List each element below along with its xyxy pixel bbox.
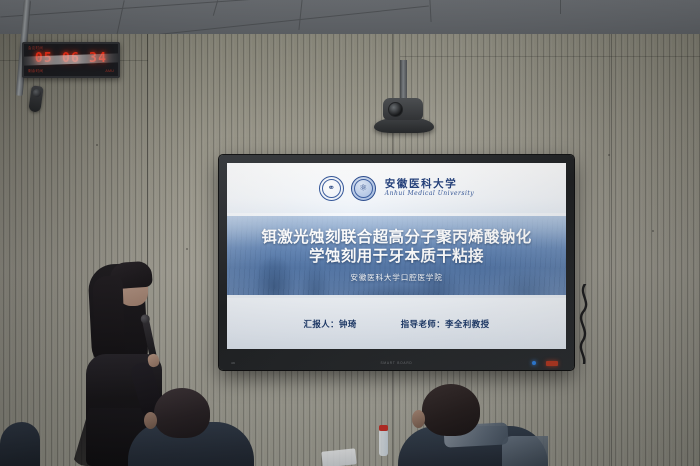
display-brand-mark: SMART BOARD <box>380 361 412 365</box>
ir-receiver-led <box>546 361 558 366</box>
university-seal-icon: ⚛ <box>351 176 376 201</box>
display-badge: 4K <box>231 361 235 365</box>
university-wordmark: 安徽医科大学 Anhui Medical University <box>385 178 474 198</box>
audience-right-head <box>422 384 480 436</box>
slide-title-line-2: 学蚀刻用于牙本质干粘接 <box>247 247 547 266</box>
tooth-glyph: ⚭ <box>328 184 336 193</box>
camera-mount-rod <box>400 60 407 102</box>
advisor-label: 指导老师：李全利教授 <box>401 318 490 330</box>
presentation-room-photo: 会议时间 05 06 34 剩余时间 AMU ⚭ ⚛ <box>0 0 700 466</box>
slide-header: ⚭ ⚛ 安徽医科大学 Anhui Medical University <box>227 163 566 213</box>
led-clock-bottom-right: AMU <box>105 68 114 74</box>
seal-glyph: ⚛ <box>359 184 367 193</box>
led-clock-display: 会议时间 05 06 34 剩余时间 AMU <box>22 42 120 78</box>
camera-lens-icon <box>388 102 403 117</box>
bottle-cap <box>379 425 388 431</box>
audience-front-left <box>132 388 244 466</box>
audience-front-right <box>398 384 548 466</box>
slide-title-line-1: 铒激光蚀刻联合超高分子聚丙烯酸钠化 <box>247 228 547 247</box>
hanging-cable <box>576 284 594 364</box>
slide-photo-band: 铒激光蚀刻联合超高分子聚丙烯酸钠化 学蚀刻用于牙本质干粘接 安徽医科大学口腔医学… <box>227 216 566 295</box>
presentation-slide: ⚭ ⚛ 安徽医科大学 Anhui Medical University <box>227 163 566 349</box>
display-bezel-bottom: 4K SMART BOARD <box>227 357 566 368</box>
university-name-en: Anhui Medical University <box>385 190 474 198</box>
audience-right-shoulder <box>502 436 548 466</box>
water-bottle <box>379 430 388 456</box>
audience-left-head <box>154 388 210 438</box>
slide-footer: 汇报人：钟琦 指导老师：李全利教授 <box>227 298 566 349</box>
power-led-indicator <box>532 361 536 365</box>
slide-subtitle: 安徽医科大学口腔医学院 <box>350 272 442 283</box>
led-clock-bottom-row: 剩余时间 AMU <box>28 68 114 74</box>
paper-sheet <box>321 448 356 466</box>
presenter-label: 汇报人：钟琦 <box>304 318 357 330</box>
slide-title-block: 铒激光蚀刻联合超高分子聚丙烯酸钠化 学蚀刻用于牙本质干粘接 安徽医科大学口腔医学… <box>227 216 566 295</box>
led-clock-digits: 05 06 34 <box>24 51 118 66</box>
led-clock-bottom-left: 剩余时间 <box>28 68 43 74</box>
university-name-cn: 安徽医科大学 <box>385 178 474 190</box>
audience-right-ear <box>412 410 425 428</box>
audience-left-ear <box>144 412 157 429</box>
audience-far-left <box>0 422 40 466</box>
tooth-emblem-icon: ⚭ <box>319 176 344 201</box>
interactive-display-panel[interactable]: ⚭ ⚛ 安徽医科大学 Anhui Medical University <box>219 155 574 370</box>
display-screen[interactable]: ⚭ ⚛ 安徽医科大学 Anhui Medical University <box>227 163 566 349</box>
